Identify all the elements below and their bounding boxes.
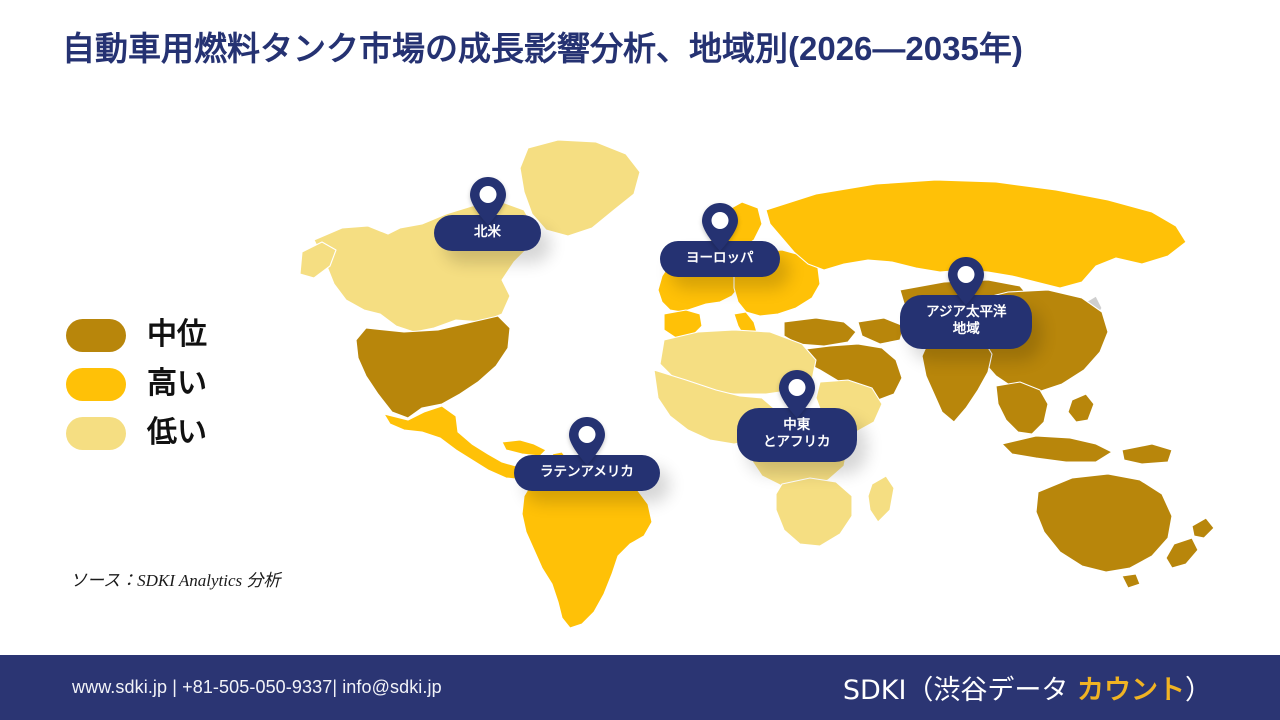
legend-item-low: 低い <box>66 410 316 456</box>
region-united-states <box>356 316 510 418</box>
legend-item-high: 高い <box>66 361 316 407</box>
source-note: ソース：SDKI Analytics 分析 <box>70 566 280 591</box>
map-pin-north-america[interactable]: 北米 <box>434 176 541 251</box>
legend-swatch-low <box>66 417 126 450</box>
footer-brand-accent: カウント <box>1077 675 1185 706</box>
region-tasmania <box>1122 574 1140 588</box>
page-title: 自動車用燃料タンク市場の成長影響分析、地域別(2026—2035年) <box>62 28 1182 71</box>
region-new-zealand-south <box>1166 538 1198 568</box>
map-pin-icon <box>947 256 985 311</box>
region-madagascar <box>868 476 894 522</box>
region-png <box>1122 444 1172 464</box>
legend: 中位 高い 低い <box>66 312 316 459</box>
legend-item-medium: 中位 <box>66 312 316 358</box>
legend-label-medium: 中位 <box>147 320 207 350</box>
region-new-zealand <box>1192 518 1214 538</box>
footer-brand-suffix: ） <box>1185 675 1212 706</box>
region-philippines <box>1068 394 1094 422</box>
footer-brand: SDKI（渋谷データ カウント） <box>843 668 1212 707</box>
map-pin-icon <box>778 369 816 424</box>
map-pin-latin-america[interactable]: ラテンアメリカ <box>514 416 660 491</box>
map-pin-asia-pacific[interactable]: アジア太平洋 地域 <box>900 256 1032 349</box>
region-southeast-asia <box>996 382 1048 434</box>
footer-bar: www.sdki.jp | +81-505-050-9337| info@sdk… <box>0 655 1280 720</box>
legend-label-high: 高い <box>147 369 207 399</box>
legend-swatch-high <box>66 368 126 401</box>
footer-brand-prefix: SDKI（渋谷データ <box>843 675 1077 706</box>
map-pin-europe[interactable]: ヨーロッパ <box>660 202 780 277</box>
map-pin-icon <box>469 176 507 231</box>
region-southern-africa <box>776 478 852 546</box>
map-pin-icon <box>568 416 606 471</box>
region-indonesia <box>1002 436 1112 462</box>
world-map: 北米 ヨーロッパ アジア太平洋 地域 中東 とアフリカ <box>296 132 1236 644</box>
legend-label-low: 低い <box>147 418 207 448</box>
map-pin-icon <box>701 202 739 257</box>
region-caucasus <box>858 318 904 344</box>
footer-contact-info[interactable]: www.sdki.jp | +81-505-050-9337| info@sdk… <box>72 677 442 698</box>
legend-swatch-medium <box>66 319 126 352</box>
map-pin-middle-east-africa[interactable]: 中東 とアフリカ <box>737 369 857 462</box>
region-australia <box>1036 474 1172 572</box>
